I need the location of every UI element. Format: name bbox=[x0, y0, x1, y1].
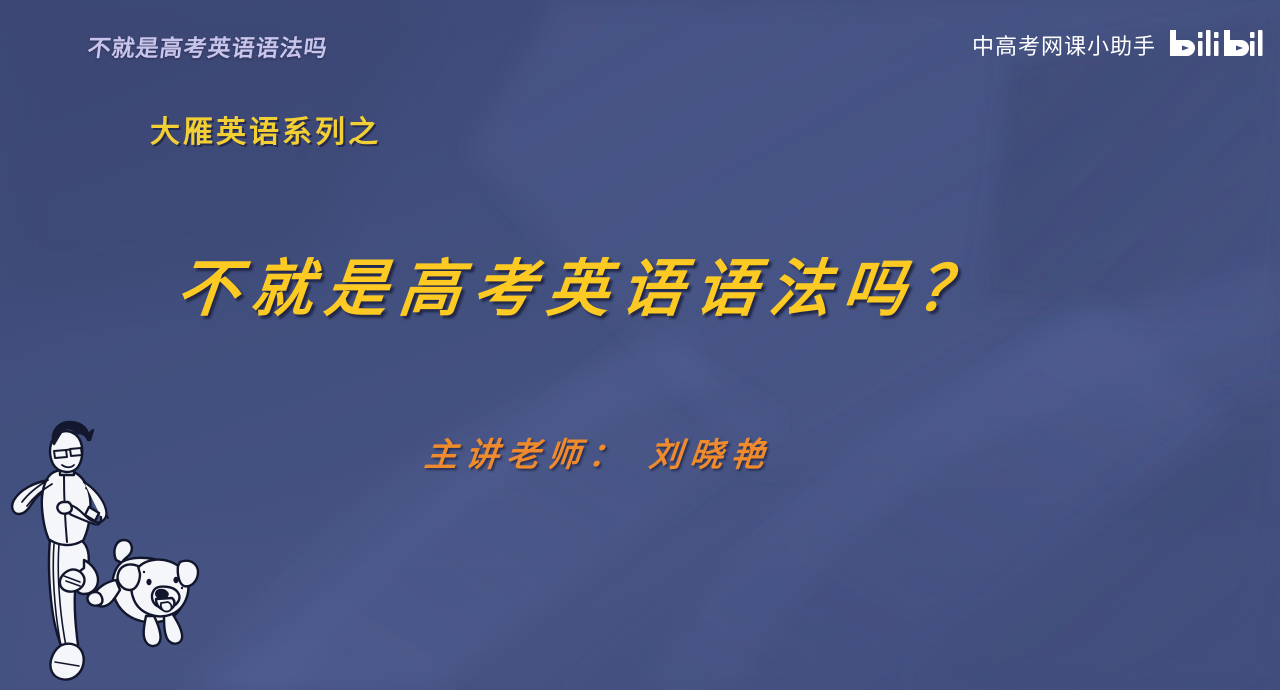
bilibili-logo-icon bbox=[1168, 28, 1264, 62]
channel-brand: 中高考网课小助手 bbox=[972, 28, 1264, 62]
mascot-illustration bbox=[4, 410, 214, 690]
watermark-title-text: 不就是高考英语语法吗 bbox=[86, 29, 330, 63]
page-title: 不就是高考英语语法吗？ bbox=[173, 238, 996, 328]
series-label: 大雁英语系列之 bbox=[150, 107, 381, 151]
video-frame: 不就是高考英语语法吗 中高考网课小助手 bbox=[0, 0, 1280, 690]
presenter-label: 主讲老师： 刘晓艳 bbox=[422, 428, 775, 476]
channel-name-label: 中高考网课小助手 bbox=[972, 29, 1156, 61]
